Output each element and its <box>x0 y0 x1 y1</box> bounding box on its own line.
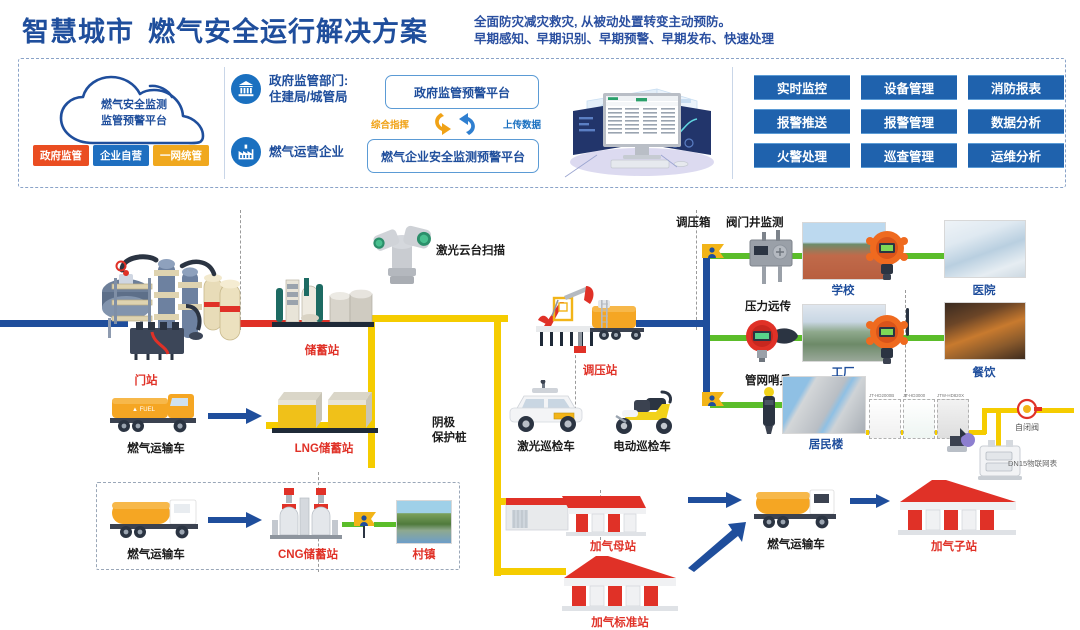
laser-patrol-car <box>502 380 590 436</box>
label-cathodic-pile-line-2: 保护桩 <box>432 431 467 446</box>
label-laser-gimbal: 激光云台扫描 <box>436 242 505 258</box>
arrow-truck-to-substation <box>850 494 890 508</box>
org-row-government: 政府监管部门: 住建局/城管局 <box>231 73 348 105</box>
hospital-photo <box>944 220 1026 278</box>
arrow-truck-to-cng <box>208 512 262 528</box>
org-label-government-line-2: 住建局/城管局 <box>269 89 348 105</box>
func-device-management[interactable]: 设备管理 <box>861 75 957 100</box>
org-label-government-line-1: 政府监管部门: <box>269 73 348 89</box>
org-row-enterprise: 燃气运营企业 <box>231 137 344 167</box>
func-realtime-monitor[interactable]: 实时监控 <box>754 75 850 100</box>
svg-text:▲ FUEL: ▲ FUEL <box>132 407 156 413</box>
cloud-label-line-1: 燃气安全监测 <box>49 97 219 113</box>
device-card-2 <box>903 399 935 439</box>
gas-transport-truck-3 <box>752 488 846 532</box>
label-cng-station: CNG储蓄站 <box>278 546 338 562</box>
cloud-platform-label: 燃气安全监测 监管预警平台 <box>49 97 219 129</box>
catering-photo <box>944 302 1026 360</box>
cng-station-illustration <box>270 486 346 544</box>
label-cathodic-pile: 阴极 保护桩 <box>432 416 467 446</box>
label-mother-station: 加气母站 <box>590 538 636 554</box>
gas-detector-catering <box>864 308 920 364</box>
func-data-analysis[interactable]: 数据分析 <box>968 109 1064 134</box>
sub-fueling-station <box>890 478 1022 538</box>
pressure-transmitter-device <box>740 316 802 362</box>
title-sub: 燃气安全运行解决方案 <box>148 17 428 47</box>
gas-network-diagram: 门站 储蓄站 ▲ FUEL 燃气运输车 <box>0 190 1080 618</box>
residential-photo <box>782 376 866 434</box>
label-laser-patrol-car: 激光巡检车 <box>517 438 575 454</box>
exchange-label-upload: 上传数据 <box>503 117 541 131</box>
page-header: 智慧城市燃气安全运行解决方案 全面防灾减灾救灾, 从被动处置转变主动预防。 早期… <box>0 0 1080 56</box>
tag-enterprise[interactable]: 企业自营 <box>93 145 149 166</box>
label-gas-meter-note: DN15物联网表 <box>1008 458 1057 469</box>
page-subtitle: 全面防灾减灾救灾, 从被动处置转变主动预防。 早期感知、早期识别、早期预警、早期… <box>474 14 774 48</box>
panel-divider-right <box>732 67 733 179</box>
device-code-3: JTW-HD820X <box>937 393 964 398</box>
function-button-grid: 实时监控 设备管理 消防报表 报警推送 报警管理 数据分析 火警处理 巡查管理 … <box>754 75 1064 168</box>
tag-government[interactable]: 政府监管 <box>33 145 89 166</box>
platform-box-government[interactable]: 政府监管预警平台 <box>385 75 539 109</box>
monitoring-workstation-illustration <box>557 67 727 179</box>
label-cathodic-pile-line-1: 阴极 <box>432 416 467 431</box>
page-title: 智慧城市燃气安全运行解决方案 <box>22 10 428 49</box>
label-catering: 餐饮 <box>973 364 996 380</box>
cloud-label-line-2: 监管预警平台 <box>49 113 219 129</box>
org-label-enterprise-line-1: 燃气运营企业 <box>269 144 344 160</box>
valve-well-marker-3 <box>700 390 726 420</box>
gas-transport-truck-1: ▲ FUEL <box>108 390 208 436</box>
pipe-yellow-down-3 <box>494 498 501 576</box>
func-alarm-management[interactable]: 报警管理 <box>861 109 957 134</box>
pipe-yellow-spine <box>494 315 501 505</box>
gate-station-illustration <box>92 248 242 364</box>
func-patrol-management[interactable]: 巡查管理 <box>861 143 957 168</box>
panel-divider-left <box>224 67 225 179</box>
func-fire-handling[interactable]: 火警处理 <box>754 143 850 168</box>
label-self-closing-valve: 自闭阀 <box>1015 422 1039 433</box>
pipe-blue-stub <box>664 320 710 327</box>
func-fire-report[interactable]: 消防报表 <box>968 75 1064 100</box>
label-village: 村镇 <box>413 546 436 562</box>
label-gas-truck-1: 燃气运输车 <box>127 440 185 456</box>
gas-detector-hospital <box>864 226 910 282</box>
subtitle-line-2: 早期感知、早期识别、早期预警、早期发布、快速处理 <box>474 31 774 48</box>
label-lng-station: LNG储蓄站 <box>295 440 354 456</box>
label-electric-patrol-scooter: 电动巡检车 <box>613 438 671 454</box>
arrow-mother-to-truck <box>688 492 742 508</box>
label-standard-station: 加气标准站 <box>591 614 649 630</box>
label-regulator-box: 调压箱 <box>676 214 711 230</box>
subtitle-line-1: 全面防灾减灾救灾, 从被动处置转变主动预防。 <box>474 14 774 31</box>
label-gas-truck-2: 燃气运输车 <box>127 546 185 562</box>
func-alarm-push[interactable]: 报警推送 <box>754 109 850 134</box>
lng-station-illustration <box>272 386 378 436</box>
regulator-box-device <box>742 228 800 288</box>
laser-gimbal-scanner <box>370 210 436 288</box>
label-storage-station: 储蓄站 <box>305 342 340 358</box>
title-main: 智慧城市 <box>22 17 134 47</box>
valve-well-marker-2 <box>700 242 726 272</box>
factory-icon <box>231 137 261 167</box>
label-residential: 居民楼 <box>809 436 844 452</box>
label-regulating-station: 调压站 <box>583 362 618 378</box>
label-school: 学校 <box>832 282 855 298</box>
org-label-enterprise: 燃气运营企业 <box>269 144 344 160</box>
government-building-icon <box>231 74 261 104</box>
village-photo <box>396 500 452 544</box>
storage-station-illustration <box>272 274 374 332</box>
label-gas-truck-3: 燃气运输车 <box>767 536 825 552</box>
arrow-truck-to-lng <box>208 408 262 424</box>
standard-fueling-station <box>556 554 684 614</box>
label-sub-station: 加气子站 <box>931 538 977 554</box>
org-label-government: 政府监管部门: 住建局/城管局 <box>269 73 348 105</box>
exchange-arrow-pair-icon <box>429 111 485 137</box>
gas-transport-truck-2 <box>108 496 208 542</box>
pipe-yellow-to-center <box>368 315 508 322</box>
pipe-green-to-village <box>374 522 398 527</box>
device-code-1: JT-HD2000B <box>869 393 894 398</box>
platform-overview-panel: 燃气安全监测 监管预警平台 政府监管 企业自营 一网统管 政府监管部门: 住建局… <box>18 58 1066 188</box>
label-pressure-telemetry: 压力远传 <box>745 298 791 314</box>
data-exchange-arrows: 综合指挥 上传数据 <box>371 111 541 137</box>
self-closing-valve-icon <box>1012 396 1042 422</box>
platform-box-enterprise[interactable]: 燃气企业安全监测预警平台 <box>367 139 539 173</box>
label-hospital: 医院 <box>973 282 996 298</box>
household-regulator-icon <box>944 422 978 456</box>
func-ops-analysis[interactable]: 运维分析 <box>968 143 1064 168</box>
tag-unified[interactable]: 一网统管 <box>153 145 209 166</box>
label-gate-station: 门站 <box>135 372 158 388</box>
platform-tag-list: 政府监管 企业自营 一网统管 <box>33 145 209 166</box>
arrow-standard-to-truck <box>686 520 748 572</box>
pipe-sentry-device <box>756 386 782 438</box>
device-code-2: JT-HD3000 <box>903 393 925 398</box>
regulating-station-illustration <box>528 282 660 360</box>
device-card-1 <box>869 399 901 439</box>
electric-patrol-scooter <box>606 386 680 438</box>
exchange-label-command: 综合指挥 <box>371 117 409 131</box>
mother-fueling-station <box>502 486 646 542</box>
